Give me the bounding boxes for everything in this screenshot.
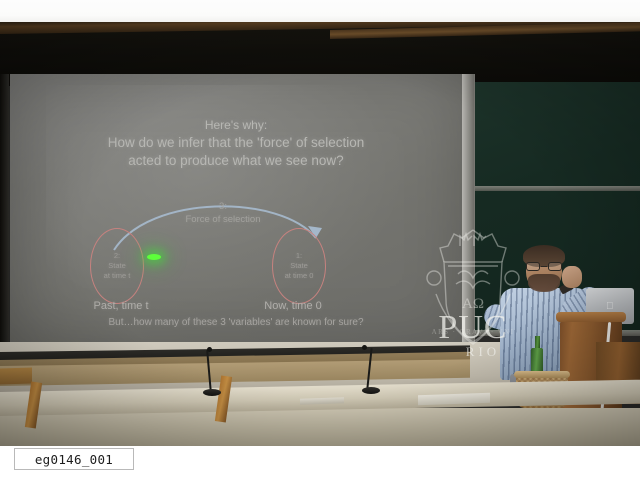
slide-title-line3: acted to produce what we see now? — [10, 152, 462, 170]
projection-screen: Here's why: How do we infer that the 'fo… — [10, 74, 462, 346]
eyeglass-bridge — [541, 266, 547, 267]
force-label-text: Force of selection — [128, 213, 318, 226]
microphone-base-right — [362, 387, 380, 394]
chalkboard-rail-upper — [474, 186, 640, 191]
slide-title-line1: Here's why: — [10, 116, 462, 134]
state-node-past-line2: at time t — [91, 271, 143, 281]
screen-right-edge — [462, 74, 474, 350]
slide-title: Here's why: How do we infer that the 'fo… — [10, 116, 462, 170]
basket-rim — [514, 371, 570, 378]
file-identifier-label: eg0146_001 — [14, 448, 134, 470]
microphone-head-right — [362, 345, 367, 350]
apple-logo-icon:  — [606, 302, 614, 311]
lecture-photograph: Here's why: How do we infer that the 'fo… — [0, 0, 640, 480]
state-node-now-number: 1: — [273, 251, 325, 261]
eyeglasses-icon — [526, 262, 562, 271]
slide-title-line2: How do we infer that the 'force' of sele… — [10, 134, 462, 152]
top-watermark-band — [0, 0, 640, 22]
state-node-past-number: 2: — [91, 251, 143, 261]
slide-question: But…how many of these 3 'variables' are … — [10, 317, 462, 328]
eyeglass-right-lens — [548, 262, 562, 271]
wooden-chair-back — [0, 367, 32, 384]
microphone-head-left — [207, 347, 212, 352]
screen-left-edge — [0, 74, 9, 346]
speaker-right-hand — [562, 266, 582, 288]
force-label-number: 3: — [128, 200, 318, 213]
state-node-now-line2: at time 0 — [273, 271, 325, 281]
speaker-beard — [528, 274, 560, 292]
state-node-now: 1: State at time 0 — [272, 228, 326, 304]
eyeglass-left-lens — [526, 262, 540, 271]
force-of-selection-label: 3: Force of selection — [128, 200, 318, 226]
state-node-past: 2: State at time t — [90, 228, 144, 304]
caption-now: Now, time 0 — [238, 300, 348, 312]
microphone-base-left — [203, 389, 221, 396]
state-node-past-line1: State — [91, 261, 143, 271]
state-node-now-line1: State — [273, 261, 325, 271]
caption-past: Past, time t — [66, 300, 176, 312]
podium-surface — [556, 312, 626, 322]
laser-pointer-dot — [147, 254, 161, 260]
file-identifier-value: eg0146_001 — [35, 452, 113, 467]
